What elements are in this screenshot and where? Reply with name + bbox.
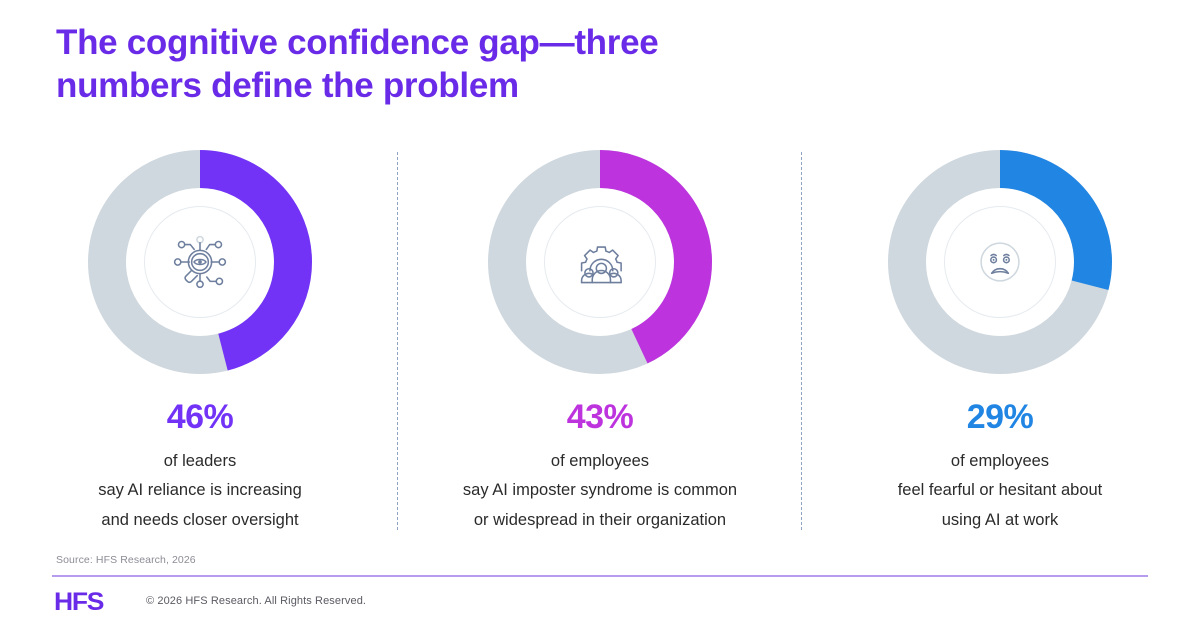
ai-oversight-magnifier-icon xyxy=(169,231,231,293)
panel-divider-2 xyxy=(801,152,802,530)
stat-percent: 29% xyxy=(967,400,1034,434)
stat-panel-imposter-syndrome: 43% of employees say AI imposter syndrom… xyxy=(400,138,800,538)
hfs-logo: HFS xyxy=(54,588,103,617)
donut-chart-43 xyxy=(488,150,712,374)
donut-chart-46 xyxy=(88,150,312,374)
stat-panel-group: 46% of leaders say AI reliance is increa… xyxy=(0,138,1200,538)
source-note: Source: HFS Research, 2026 xyxy=(56,554,196,566)
stat-percent: 46% xyxy=(167,400,234,434)
page-title: The cognitive confidence gap—three numbe… xyxy=(56,22,1056,107)
copyright-note: © 2026 HFS Research. All Rights Reserved… xyxy=(146,595,366,607)
worried-face-icon xyxy=(969,231,1031,293)
infographic-slide: The cognitive confidence gap—three numbe… xyxy=(0,0,1200,627)
stat-percent: 43% xyxy=(567,400,634,434)
stat-caption: of employees say AI imposter syndrome is… xyxy=(463,447,737,535)
donut-chart-29 xyxy=(888,150,1112,374)
workforce-gear-icon xyxy=(569,231,631,293)
icon-disc xyxy=(544,206,656,318)
stat-caption: of leaders say AI reliance is increasing… xyxy=(98,447,302,535)
stat-caption: of employees feel fearful or hesitant ab… xyxy=(898,447,1103,535)
stat-panel-leaders-oversight: 46% of leaders say AI reliance is increa… xyxy=(0,138,400,538)
panel-divider-1 xyxy=(397,152,398,530)
icon-disc xyxy=(944,206,1056,318)
stat-panel-fear-hesitancy: 29% of employees feel fearful or hesitan… xyxy=(800,138,1200,538)
icon-disc xyxy=(144,206,256,318)
footer-rule xyxy=(52,575,1148,577)
